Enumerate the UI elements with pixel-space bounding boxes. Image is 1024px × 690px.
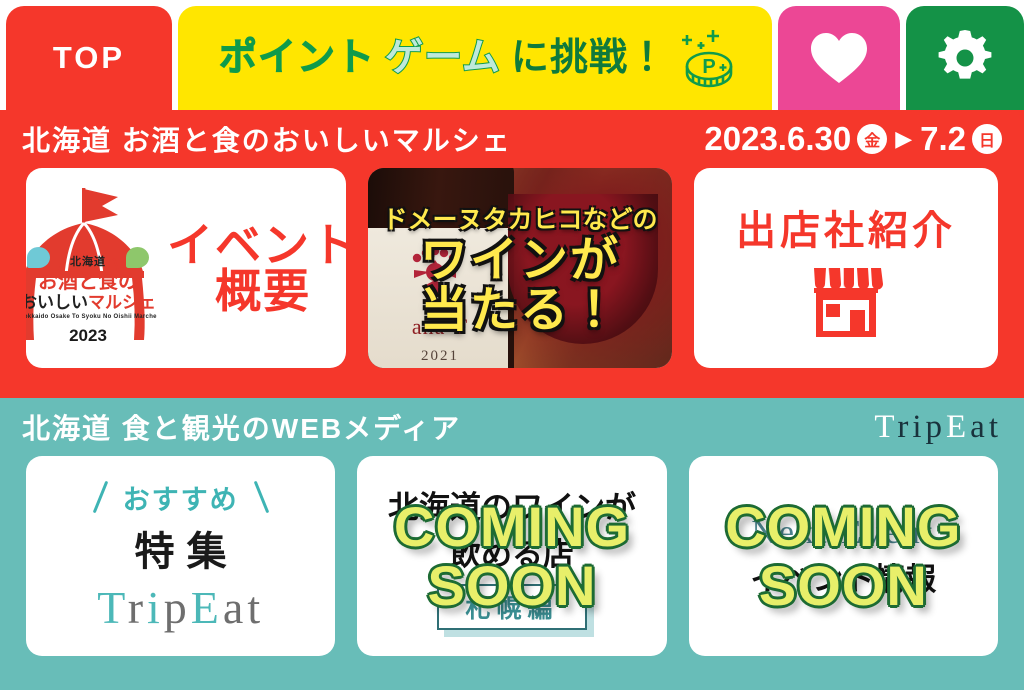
event-date: 2023.6.30 金 ▶ 7.2 日 [704,120,1002,158]
card-event-outline-title-line2: 概要 [167,268,346,314]
card-wine-shops-badge: 札幌編 [437,584,586,630]
wine-label-year: 2021 [370,348,510,365]
top-tab-bar: TOP ポイント ゲーム に挑戦！ [0,0,1024,110]
tab-top[interactable]: TOP [6,6,172,110]
wine-photo: ana-T 2021 [368,168,672,368]
wine-bottle: ana-T 2021 [368,168,514,368]
card-next-event[interactable]: Next Event イベント情報 COMING SOON [689,456,998,656]
card-tokushu[interactable]: おすすめ 特集 TripEat [26,456,335,656]
media-section: 北海道 食と観光のWEBメディア TripEat おすすめ 特集 TripEat… [0,398,1024,690]
date-range-arrow-icon: ▶ [895,126,912,152]
logo-line2-red: マルシェ [88,293,156,312]
tab-favorites[interactable] [778,6,900,110]
card-exhibitors-title: 出店社紹介 [736,198,956,256]
media-card-grid: おすすめ 特集 TripEat 北海道のワインが 飲める店 札幌編 COMING… [0,456,1024,656]
event-date-start: 2023.6.30 [704,120,851,158]
logo-line1: お酒と食の [26,272,163,292]
event-card-grid: 北海道 お酒と食の おいしいマルシェ Hokkaido Osake To Syo… [0,168,1024,368]
card-next-event-kicker: Next Event [751,514,935,552]
card-wine-giveaway[interactable]: ana-T 2021 ドメーヌタカヒコなどの ワインが 当たる！ [368,168,672,368]
card-event-outline[interactable]: 北海道 お酒と食の おいしいマルシェ Hokkaido Osake To Syo… [26,168,346,368]
card-tokushu-title: 特集 [135,519,239,577]
card-event-outline-title: イベント 概要 [167,222,346,314]
point-coin-icon: P [677,22,745,94]
tab-settings[interactable] [906,6,1024,110]
logo-region: 北海道 [70,257,106,268]
tab-point-game[interactable]: ポイント ゲーム に挑戦！ P [178,6,772,110]
card-wine-shops[interactable]: 北海道のワインが 飲める店 札幌編 COMING SOON [357,456,666,656]
media-section-title: 北海道 食と観光のWEBメディア [22,407,461,447]
card-wine-shops-line2: 飲める店 [450,529,574,574]
point-game-label-part3: に挑戦！ [511,39,667,77]
card-tokushu-brand: TripEat [97,581,264,634]
event-section: 北海道 お酒と食のおいしいマルシェ 2023.6.30 金 ▶ 7.2 日 [0,110,1024,398]
point-game-label-part2: ゲーム [385,39,501,77]
logo-romaji: Hokkaido Osake To Syoku No Oishii Marche [26,314,163,320]
event-date-end: 7.2 [920,120,966,158]
media-section-band: 北海道 食と観光のWEBメディア TripEat [0,398,1024,456]
app-root: TOP ポイント ゲーム に挑戦！ [0,0,1024,690]
gear-icon [937,30,993,86]
card-wine-shops-content: 北海道のワインが 飲める店 札幌編 [357,456,666,656]
card-wine-shops-line1: 北海道のワインが [388,482,636,527]
shop-icon [806,266,886,338]
tripeat-logo: TripEat [874,409,1002,446]
event-date-end-day: 日 [972,124,1002,154]
point-coin-letter: P [702,56,715,78]
card-next-event-content: Next Event イベント情報 [689,456,998,656]
card-exhibitors[interactable]: 出店社紹介 [694,168,998,368]
point-game-label-part1: ポイント [219,39,375,77]
heart-icon [809,31,869,85]
marche-logo-text: 北海道 お酒と食の おいしいマルシェ Hokkaido Osake To Syo… [26,253,163,344]
flower-emblem-icon [402,246,468,302]
wine-glass [508,194,658,344]
card-next-event-title: イベント情報 [750,554,936,599]
logo-year: 2023 [26,327,163,344]
logo-line2-kanji: おいしい [26,293,88,312]
wine-bottle-label: ana-T 2021 [368,228,508,368]
card-event-outline-title-line1: イベント [167,222,346,268]
card-tokushu-kicker: おすすめ [93,478,269,517]
tab-top-label: TOP [53,40,125,76]
wine-label-word: ana-T [370,314,510,340]
marche-logo: 北海道 お酒と食の おいしいマルシェ Hokkaido Osake To Syo… [26,181,163,356]
event-date-start-day: 金 [857,124,887,154]
event-section-title: 北海道 お酒と食のおいしいマルシェ [22,119,512,159]
event-section-band: 北海道 お酒と食のおいしいマルシェ 2023.6.30 金 ▶ 7.2 日 [0,110,1024,168]
